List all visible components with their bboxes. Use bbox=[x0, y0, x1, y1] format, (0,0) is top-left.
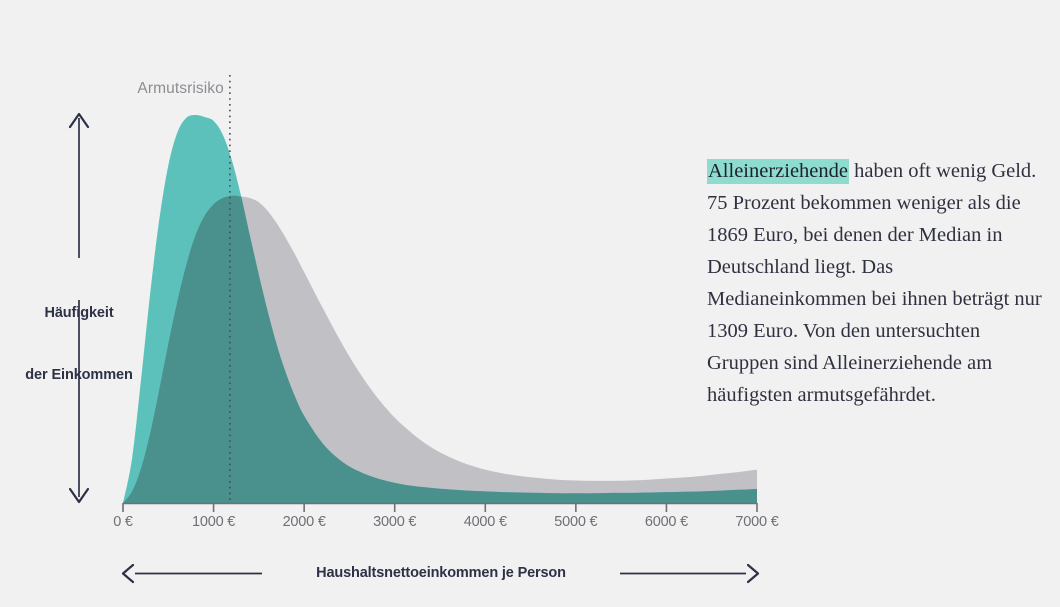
x-axis-tick-label: 3000 € bbox=[373, 514, 416, 530]
infographic-figure: Armutsrisiko Häufigkeit der Einkommen Ha… bbox=[0, 0, 1060, 607]
x-axis-tick-label: 1000 € bbox=[192, 514, 235, 530]
x-axis-tick-label: 0 € bbox=[113, 514, 133, 530]
x-axis-tick-label: 7000 € bbox=[735, 514, 778, 530]
highlighted-term: Alleinerziehende bbox=[707, 159, 849, 184]
x-axis-title: Haushaltsnettoeinkommen je Person bbox=[262, 565, 620, 582]
x-axis-tick-label: 4000 € bbox=[464, 514, 507, 530]
poverty-risk-label: Armutsrisiko bbox=[130, 80, 224, 98]
x-axis-ticks bbox=[123, 503, 757, 512]
x-axis-tick-label: 5000 € bbox=[554, 514, 597, 530]
x-axis-tick-label: 6000 € bbox=[645, 514, 688, 530]
x-axis-tick-label: 2000 € bbox=[283, 514, 326, 530]
annotation-body: haben oft wenig Geld. 75 Prozent bekomme… bbox=[707, 160, 1042, 406]
y-axis-label-line1: Häufigkeit bbox=[0, 303, 158, 324]
annotation-paragraph: Alleinerziehende haben oft wenig Geld. 7… bbox=[707, 155, 1047, 411]
y-axis-label: Häufigkeit der Einkommen bbox=[0, 262, 158, 427]
y-axis-label-line2: der Einkommen bbox=[0, 365, 158, 386]
